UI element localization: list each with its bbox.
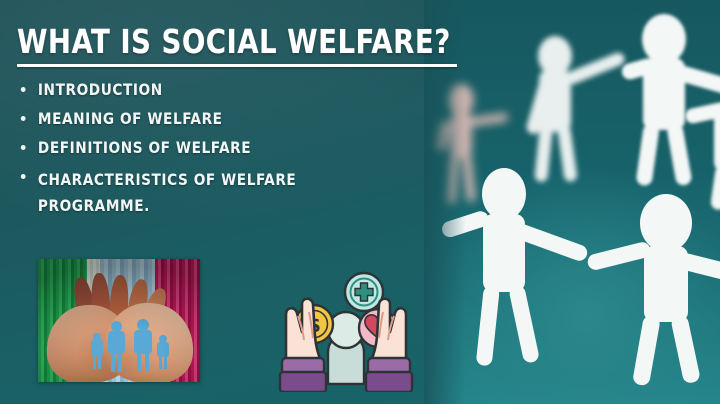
health-cross-icon <box>345 273 383 311</box>
paper-figure-back-right <box>610 14 720 182</box>
list-item: DEFINITIONS OF WELFARE <box>17 138 397 157</box>
presentation-slide: $ <box>0 0 720 404</box>
welfare-hands-icon: $ <box>268 252 424 392</box>
photo-vignette <box>38 259 200 382</box>
page-title: WHAT IS SOCIAL WELFARE? <box>17 22 426 62</box>
hands-holding-paper-family-photo <box>38 259 200 382</box>
list-item: CHARACTERISTICS OF WELFARE PROGRAMME. <box>17 167 397 219</box>
title-underline <box>17 64 457 67</box>
list-item: INTRODUCTION <box>17 80 397 99</box>
bullet-list: INTRODUCTION MEANING OF WELFARE DEFINITI… <box>17 80 417 229</box>
paper-figure-right-edge <box>708 80 720 210</box>
list-item: MEANING OF WELFARE <box>17 109 397 128</box>
paper-people-chain-photo <box>424 0 720 404</box>
paper-figure-front-left <box>454 168 584 368</box>
paper-figure-front-right <box>614 194 720 386</box>
